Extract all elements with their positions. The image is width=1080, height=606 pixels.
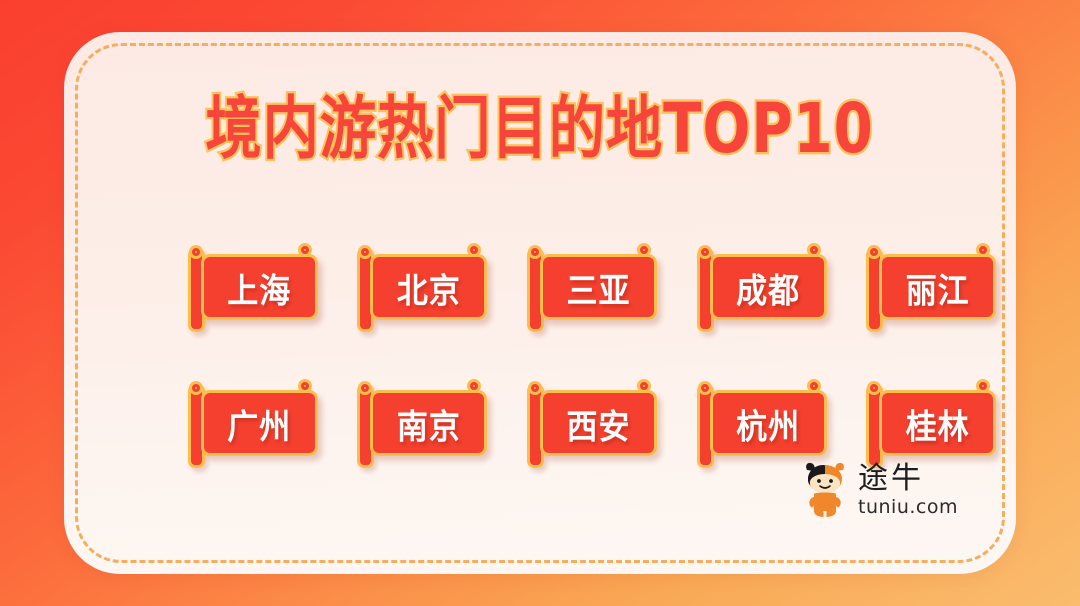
brand-url: tuniu.com	[858, 498, 958, 517]
page-title-wrapper: 境内游热门目的地TOP10	[64, 94, 1016, 152]
destination-tag[interactable]: 丽江	[866, 254, 996, 332]
scroll-curl-left-icon	[698, 245, 712, 259]
destination-tag[interactable]: 广州	[188, 390, 318, 468]
destination-grid: 上海 北京 三亚	[168, 254, 1016, 468]
destination-tag-body: 上海	[201, 254, 318, 320]
destination-tag-body: 西安	[540, 390, 657, 456]
scroll-curl-right-icon	[807, 379, 821, 393]
destination-tag[interactable]: 成都	[697, 254, 827, 332]
destination-label: 北京	[397, 262, 461, 312]
scroll-curl-left-icon	[528, 381, 542, 395]
destination-tag[interactable]: 南京	[357, 390, 487, 468]
destination-tag-body: 北京	[370, 254, 487, 320]
page-title-reflection-holder: 境内游热门目的地TOP10	[64, 162, 1016, 222]
destination-label: 桂林	[906, 398, 970, 448]
destination-tag[interactable]: 杭州	[697, 390, 827, 468]
page-title: 境内游热门目的地TOP10	[206, 94, 874, 162]
scroll-curl-left-icon	[189, 245, 203, 259]
destination-tag-body: 杭州	[710, 390, 827, 456]
destination-label: 丽江	[906, 262, 970, 312]
scroll-curl-right-icon	[807, 243, 821, 257]
destination-label: 三亚	[566, 262, 630, 312]
destination-tag-body: 南京	[370, 390, 487, 456]
brand-name-cn: 途牛	[858, 464, 924, 494]
destination-tag[interactable]: 三亚	[527, 254, 657, 332]
scroll-curl-left-icon	[189, 381, 203, 395]
destination-tag-body: 三亚	[540, 254, 657, 320]
destination-tag[interactable]: 北京	[357, 254, 487, 332]
scroll-curl-left-icon	[698, 381, 712, 395]
destination-tag-body: 桂林	[879, 390, 996, 456]
poster-canvas: 境内游热门目的地TOP10 境内游热门目的地TOP10 上海 北京	[0, 0, 1080, 606]
destination-tag[interactable]: 桂林	[866, 390, 996, 468]
destination-label: 成都	[736, 262, 800, 312]
destination-tag-body: 广州	[201, 390, 318, 456]
brand-logo[interactable]: 途牛 tuniu.com	[802, 461, 958, 519]
scroll-curl-right-icon	[298, 243, 312, 257]
tuniu-mascot-icon	[802, 461, 848, 519]
destination-tag[interactable]: 西安	[527, 390, 657, 468]
content-card: 境内游热门目的地TOP10 境内游热门目的地TOP10 上海 北京	[64, 32, 1016, 574]
brand-logo-text: 途牛 tuniu.com	[858, 464, 958, 517]
scroll-curl-right-icon	[637, 243, 651, 257]
destination-label: 南京	[397, 398, 461, 448]
scroll-curl-right-icon	[298, 379, 312, 393]
destination-label: 西安	[566, 398, 630, 448]
destination-label: 广州	[227, 398, 291, 448]
destination-label: 杭州	[736, 398, 800, 448]
scroll-curl-right-icon	[637, 379, 651, 393]
destination-label: 上海	[227, 262, 291, 312]
destination-tag[interactable]: 上海	[188, 254, 318, 332]
page-title-reflection: 境内游热门目的地TOP10	[78, 162, 1001, 168]
destination-tag-body: 丽江	[879, 254, 996, 320]
scroll-curl-left-icon	[528, 245, 542, 259]
destination-tag-body: 成都	[710, 254, 827, 320]
